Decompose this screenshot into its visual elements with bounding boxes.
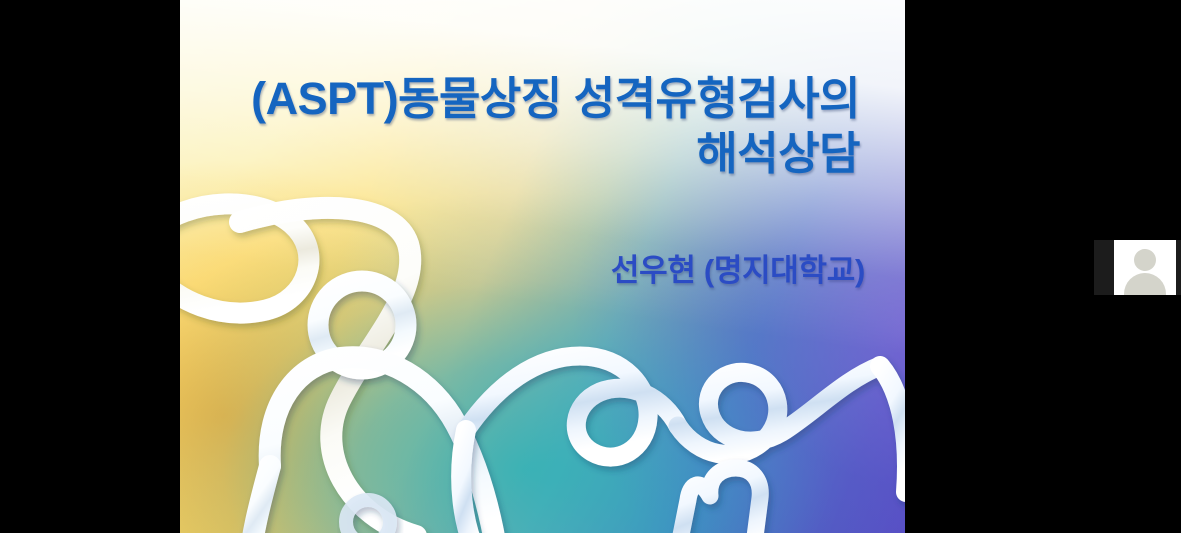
slide-title: (ASPT)동물상징 성격유형검사의 해석상담 (220, 72, 860, 182)
avatar-head-icon (1134, 249, 1156, 271)
letterbox-left (0, 0, 180, 533)
artwork-figure-bottom-center (346, 500, 390, 533)
artwork-figure-center (250, 281, 498, 533)
slide-subtitle: 선우현 (명지대학교) (220, 252, 865, 289)
slide-title-line-1: (ASPT)동물상징 성격유형검사의 (220, 72, 860, 127)
screen-share-viewport: (ASPT)동물상징 성격유형검사의 해석상담 선우현 (명지대학교) (0, 0, 1181, 533)
slide-subtitle-line-1: 선우현 (명지대학교) (220, 252, 865, 289)
presentation-slide[interactable]: (ASPT)동물상징 성격유형검사의 해석상담 선우현 (명지대학교) (180, 0, 905, 533)
participant-tile-left-strip (1094, 240, 1114, 295)
participant-tile-right-strip (1176, 240, 1181, 295)
artwork-figure-pair-right (461, 356, 905, 533)
avatar-body-icon (1124, 273, 1166, 295)
artwork-figure-lower-right (676, 468, 760, 533)
participant-video-tile[interactable] (1114, 240, 1176, 295)
slide-title-line-2: 해석상담 (220, 127, 860, 182)
